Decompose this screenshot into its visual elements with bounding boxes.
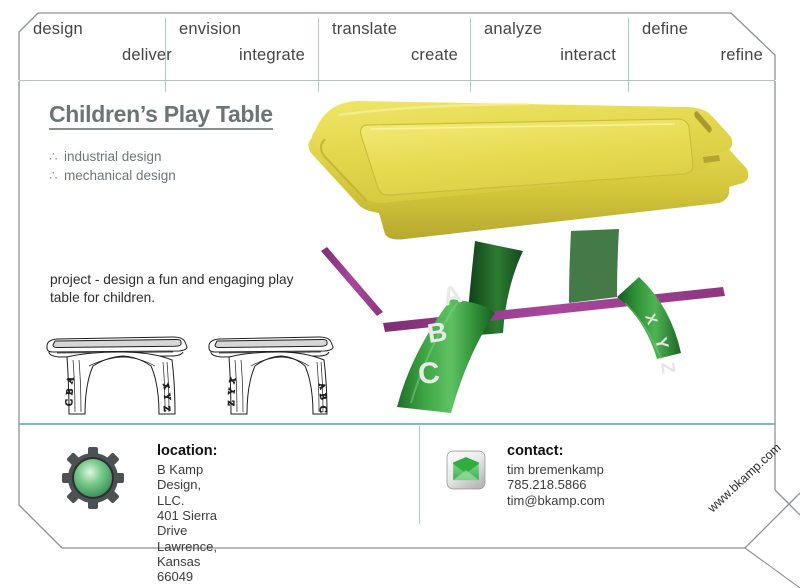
- therefore-bullet-icon: ∴: [49, 168, 64, 184]
- location-text: location: B Kamp Design, LLC. 401 Sierra…: [157, 443, 217, 585]
- nav-tab-label-primary: define: [642, 20, 688, 39]
- svg-text:Z: Z: [162, 406, 172, 412]
- tag-label: mechanical design: [64, 168, 176, 183]
- svg-text:A: A: [439, 278, 465, 312]
- contact-phone: 785.218.5866: [507, 477, 605, 492]
- tag-industrial-design: ∴industrial design: [49, 149, 162, 165]
- therefore-bullet-icon: ∴: [49, 149, 64, 165]
- location-line: B Kamp Design, LLC.: [157, 462, 217, 508]
- page-title: Children’s Play Table: [49, 102, 273, 130]
- nav-tab-label-secondary: interact: [560, 46, 616, 65]
- contact-text: contact: tim bremenkamp 785.218.5866 tim…: [507, 443, 605, 508]
- nav-tab-label-primary: analyze: [484, 20, 542, 39]
- nav-tab-translate[interactable]: translate create: [318, 12, 470, 80]
- gear-icon: [62, 447, 124, 509]
- play-table-3d-render: A B C X Y Z: [299, 91, 779, 421]
- top-navigation: design deliver envision integrate transl…: [19, 12, 775, 80]
- nav-tab-label-primary: design: [33, 20, 83, 39]
- nav-tab-design[interactable]: design deliver: [19, 12, 184, 80]
- nav-tab-label-secondary: refine: [721, 46, 763, 65]
- nav-tab-define[interactable]: define refine: [628, 12, 775, 80]
- svg-text:Z: Z: [656, 361, 678, 376]
- table-leg-rear-center: [569, 229, 619, 303]
- trim-rail-left: [321, 247, 383, 316]
- nav-tab-label-secondary: create: [411, 46, 458, 65]
- website-url-corner[interactable]: www.bkamp.com: [705, 441, 784, 516]
- nav-tab-label-primary: envision: [179, 20, 241, 39]
- contact-name: tim bremenkamp: [507, 462, 605, 477]
- email-icon[interactable]: [445, 449, 487, 491]
- location-heading: location:: [157, 443, 217, 459]
- nav-tab-analyze[interactable]: analyze interact: [470, 12, 628, 80]
- location-line: Lawrence, Kansas 66049: [157, 539, 217, 585]
- footer-divider-horizontal: [19, 423, 775, 425]
- tag-mechanical-design: ∴mechanical design: [49, 168, 176, 184]
- drawing-front-elevation: A B C X Y Z: [47, 337, 187, 414]
- project-description: project - design a fun and engaging play…: [50, 271, 325, 308]
- tag-label: industrial design: [64, 149, 162, 164]
- table-leg-front-left: [397, 299, 495, 413]
- footer-divider-vertical: [419, 424, 420, 524]
- contact-email[interactable]: tim@bkamp.com: [507, 493, 605, 508]
- svg-text:C: C: [64, 399, 75, 406]
- nav-tab-label-primary: translate: [332, 20, 397, 39]
- portfolio-sheet: design deliver envision integrate transl…: [0, 0, 800, 588]
- svg-text:Z: Z: [226, 400, 236, 406]
- main-content: Children’s Play Table ∴industrial design…: [19, 81, 775, 423]
- contact-heading: contact:: [507, 443, 605, 459]
- location-line: 401 Sierra Drive: [157, 508, 217, 539]
- nav-tab-label-secondary: integrate: [239, 46, 305, 65]
- nav-tab-envision[interactable]: envision integrate: [165, 12, 317, 80]
- svg-text:C: C: [417, 356, 441, 391]
